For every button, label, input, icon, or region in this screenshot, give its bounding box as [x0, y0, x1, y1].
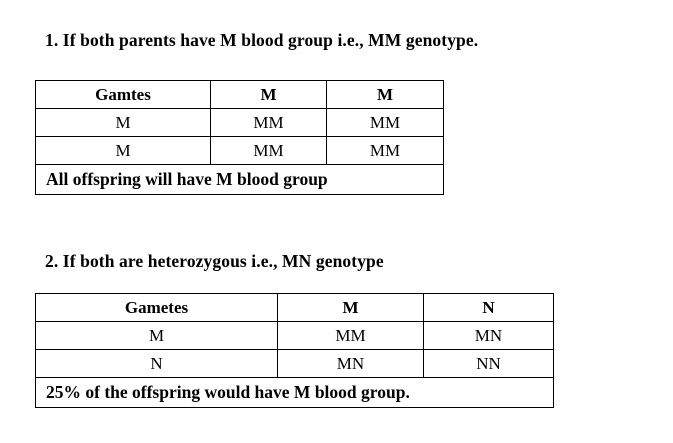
- table-1-row-1-cell-3: MM: [327, 109, 444, 137]
- table-1-header-gametes: Gamtes: [36, 81, 211, 109]
- table-2-row-2-cell-1: N: [36, 350, 278, 378]
- table-1-row-2-cell-2: MM: [211, 137, 327, 165]
- table-1-row-1-cell-1: M: [36, 109, 211, 137]
- table-row: M MM MN: [36, 322, 554, 350]
- table-header-row: Gamtes M M: [36, 81, 444, 109]
- table-1-header-col-2: M: [211, 81, 327, 109]
- table-1-row-1-cell-2: MM: [211, 109, 327, 137]
- punnett-square-table-2: Gametes M N M MM MN N MN NN 25% of the o…: [35, 293, 554, 408]
- table-2-header-col-2: M: [278, 294, 424, 322]
- table-row: M MM MM: [36, 137, 444, 165]
- table-1-header-col-3: M: [327, 81, 444, 109]
- table-footer-row: All offspring will have M blood group: [36, 165, 444, 195]
- document-page: 1. If both parents have M blood group i.…: [0, 0, 673, 443]
- table-2-row-1-cell-1: M: [36, 322, 278, 350]
- table-2-row-1-cell-2: MM: [278, 322, 424, 350]
- table-row: N MN NN: [36, 350, 554, 378]
- table-2-footer-conclusion: 25% of the offspring would have M blood …: [36, 378, 554, 408]
- table-header-row: Gametes M N: [36, 294, 554, 322]
- section-2-heading: 2. If both are heterozygous i.e., MN gen…: [45, 252, 384, 271]
- table-2-header-gametes: Gametes: [36, 294, 278, 322]
- table-1-footer-conclusion: All offspring will have M blood group: [36, 165, 444, 195]
- section-1-heading: 1. If both parents have M blood group i.…: [45, 31, 478, 50]
- table-2-header-col-3: N: [424, 294, 554, 322]
- table-2-row-2-cell-3: NN: [424, 350, 554, 378]
- table-footer-row: 25% of the offspring would have M blood …: [36, 378, 554, 408]
- table-1-row-2-cell-3: MM: [327, 137, 444, 165]
- punnett-square-table-1: Gamtes M M M MM MM M MM MM All offspring…: [35, 80, 444, 195]
- table-1-row-2-cell-1: M: [36, 137, 211, 165]
- table-2-row-2-cell-2: MN: [278, 350, 424, 378]
- table-2-row-1-cell-3: MN: [424, 322, 554, 350]
- table-row: M MM MM: [36, 109, 444, 137]
